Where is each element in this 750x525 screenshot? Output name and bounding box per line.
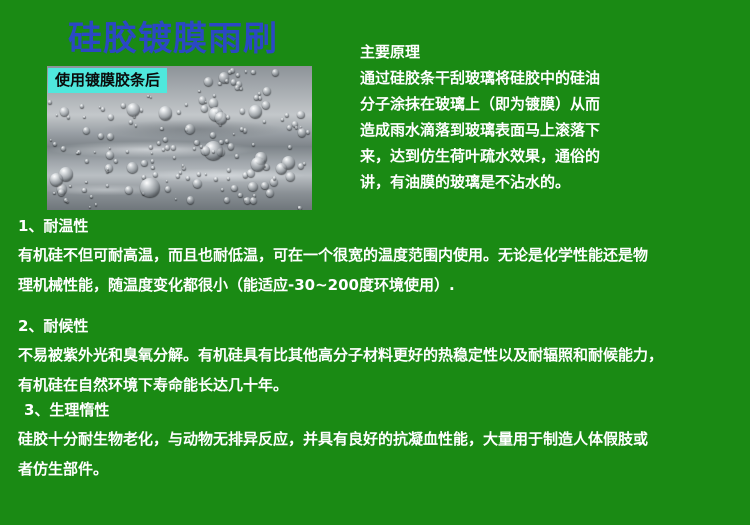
water-droplet: [252, 143, 255, 146]
water-droplet: [225, 139, 229, 143]
water-droplet: [101, 107, 105, 111]
water-droplet: [287, 125, 292, 130]
water-droplet: [235, 85, 240, 90]
water-droplet: [236, 73, 241, 78]
water-droplet: [94, 151, 96, 153]
water-droplet: [262, 101, 270, 109]
water-droplet: [233, 133, 236, 136]
section-heading: 3、生理惰性: [18, 396, 740, 424]
section-heading: 1、耐温性: [18, 212, 740, 240]
water-droplet: [95, 203, 98, 206]
section-temperature-resistance: 1、耐温性 有机硅不但可耐高温，而且也耐低温，可在一个很宽的温度范围内使用。无论…: [18, 212, 740, 300]
water-droplet: [165, 145, 170, 150]
water-droplet: [159, 106, 173, 120]
water-droplet: [258, 92, 261, 95]
section-line: 不易被紫外光和臭氧分解。有机硅具有比其他高分子材料更好的热稳定性以及耐辐照和耐候…: [18, 340, 740, 370]
water-droplet: [127, 103, 140, 116]
water-droplet: [276, 163, 288, 175]
photo-caption-badge: 使用镀膜胶条后: [48, 68, 167, 93]
water-droplet: [105, 164, 113, 172]
water-droplet: [121, 103, 126, 108]
water-droplet: [201, 105, 208, 112]
water-droplet: [151, 166, 154, 169]
water-droplet: [53, 142, 57, 146]
water-droplet: [98, 133, 104, 139]
water-droplet: [298, 128, 307, 137]
water-droplet: [194, 140, 200, 146]
principle-title: 主要原理: [360, 40, 745, 65]
water-droplet: [140, 108, 143, 111]
water-droplet: [221, 188, 224, 191]
water-droplet: [224, 197, 230, 203]
water-droplet: [300, 126, 302, 128]
water-droplet: [197, 172, 201, 176]
water-droplet: [185, 103, 188, 106]
water-droplet: [266, 189, 274, 197]
water-droplet: [85, 159, 89, 163]
water-droplet: [261, 182, 269, 190]
water-droplet: [212, 150, 215, 153]
water-droplet: [281, 118, 284, 121]
water-droplet: [114, 159, 118, 163]
water-droplet: [67, 115, 71, 119]
water-droplet: [106, 184, 109, 187]
water-droplet: [245, 70, 248, 73]
water-droplet: [153, 172, 158, 177]
water-droplet: [251, 70, 255, 74]
water-droplet: [286, 172, 295, 181]
water-droplet: [249, 105, 262, 118]
water-droplet: [187, 196, 195, 204]
water-droplet: [254, 95, 258, 99]
principle-line: 来，达到仿生荷叶疏水效果，通俗的: [360, 143, 745, 169]
water-droplet: [106, 151, 114, 159]
water-droplet: [263, 87, 271, 95]
water-droplet: [160, 127, 163, 130]
water-droplet: [306, 130, 310, 134]
principle-block: 主要原理 通过硅胶条干刮玻璃将硅胶中的硅油 分子涂抹在玻璃上（即为镀膜）从而 造…: [360, 40, 745, 195]
water-droplet: [151, 152, 153, 154]
water-droplet: [90, 195, 94, 199]
water-droplet: [176, 174, 180, 178]
coated-glass-photo: 使用镀膜胶条后: [47, 66, 312, 210]
water-droplet: [89, 206, 91, 208]
water-droplet: [273, 176, 276, 179]
water-droplet: [205, 101, 208, 104]
principle-line: 造成雨水滴落到玻璃表面马上滚落下: [360, 117, 745, 143]
water-droplet: [251, 157, 265, 171]
water-droplet: [205, 173, 207, 175]
water-droplet: [109, 147, 111, 149]
water-droplet: [297, 111, 304, 118]
water-droplet: [272, 69, 279, 76]
water-droplet: [200, 145, 203, 148]
water-droplet: [80, 104, 84, 108]
water-droplet: [218, 82, 222, 86]
water-droplet: [157, 141, 161, 145]
section-line: 者仿生部件。: [18, 454, 740, 484]
water-droplet: [58, 189, 65, 196]
page-title: 硅胶镀膜雨刷: [68, 18, 278, 60]
water-droplet: [76, 152, 79, 155]
water-droplet: [151, 159, 154, 162]
water-droplet: [127, 162, 138, 173]
water-droplet: [263, 120, 266, 123]
water-droplet: [175, 198, 177, 200]
water-droplet: [228, 70, 232, 74]
water-droplet: [295, 126, 297, 128]
water-droplet: [107, 168, 109, 170]
water-droplet: [163, 137, 168, 142]
water-droplet: [240, 108, 246, 114]
section-physiological-inertness: 3、生理惰性 硅胶十分耐生物老化，与动物无排异反应，并具有良好的抗凝血性能，大量…: [18, 396, 740, 484]
water-droplet: [108, 114, 114, 120]
principle-line: 通过硅胶条干刮玻璃将硅胶中的硅油: [360, 65, 745, 91]
water-droplet: [171, 145, 176, 150]
water-droplet: [248, 182, 258, 192]
water-droplet: [215, 112, 226, 123]
water-droplet: [125, 186, 133, 194]
section-line: 理机械性能，随温度变化都很小（能适应-30~200度环境使用）.: [18, 270, 740, 300]
water-droplet: [48, 100, 52, 104]
water-droplet: [173, 156, 176, 159]
water-droplet: [56, 114, 59, 117]
water-droplet: [250, 197, 258, 205]
principle-line: 分子涂抹在玻璃上（即为镀膜）从而: [360, 91, 745, 117]
water-droplet: [150, 96, 152, 98]
water-droplet: [225, 79, 229, 83]
water-droplet: [82, 188, 87, 193]
water-droplet: [228, 143, 235, 150]
water-droplet: [83, 127, 90, 134]
water-droplet: [69, 185, 71, 187]
water-droplet: [141, 160, 147, 166]
water-droplet: [298, 163, 304, 169]
water-droplet: [235, 154, 238, 157]
water-droplet: [126, 150, 129, 153]
water-droplet: [227, 168, 231, 172]
water-droplet: [61, 146, 66, 151]
water-droplet: [239, 87, 243, 91]
water-droplet: [213, 94, 216, 97]
water-droplet: [231, 185, 237, 191]
water-droplet: [185, 124, 195, 134]
section-heading: 2、耐候性: [18, 312, 740, 340]
water-droplet: [166, 180, 168, 182]
water-droplet: [240, 127, 243, 130]
water-droplet: [165, 186, 172, 193]
principle-line: 讲，有油膜的玻璃是不沾水的。: [360, 169, 745, 195]
water-droplet: [193, 179, 202, 188]
product-detail-page: 硅胶镀膜雨刷 使用镀膜胶条后 主要原理 通过硅胶条干刮玻璃将硅胶中的硅油 分子涂…: [0, 0, 750, 525]
water-droplet: [298, 206, 302, 210]
water-droplet: [140, 178, 160, 198]
water-droplet: [107, 133, 114, 140]
water-droplet: [85, 181, 87, 183]
water-droplet: [238, 193, 243, 198]
water-droplet: [288, 145, 292, 149]
water-droplet: [210, 132, 216, 138]
water-droplet: [226, 115, 230, 119]
water-droplet: [285, 113, 289, 117]
water-droplet: [149, 145, 153, 149]
section-line: 硅胶十分耐生物老化，与动物无排异反应，并具有良好的抗凝血性能，大量用于制造人体假…: [18, 424, 740, 454]
water-droplet: [214, 177, 218, 181]
water-droplet: [198, 90, 200, 92]
water-droplet: [204, 77, 214, 87]
water-droplet: [177, 110, 181, 114]
water-droplet: [193, 147, 196, 150]
water-droplet: [135, 124, 138, 127]
water-droplet: [83, 116, 85, 118]
water-droplet: [129, 120, 133, 124]
water-droplet: [186, 176, 190, 180]
water-droplet: [53, 192, 55, 194]
water-droplet: [50, 139, 52, 141]
water-droplet: [162, 148, 165, 151]
water-droplet: [227, 177, 230, 180]
section-line: 有机硅不但可耐高温，而且也耐低温，可在一个很宽的温度范围内使用。无论是化学性能还…: [18, 240, 740, 270]
section-weather-resistance: 2、耐候性 不易被紫外光和臭氧分解。有机硅具有比其他高分子材料更好的热稳定性以及…: [18, 312, 740, 400]
